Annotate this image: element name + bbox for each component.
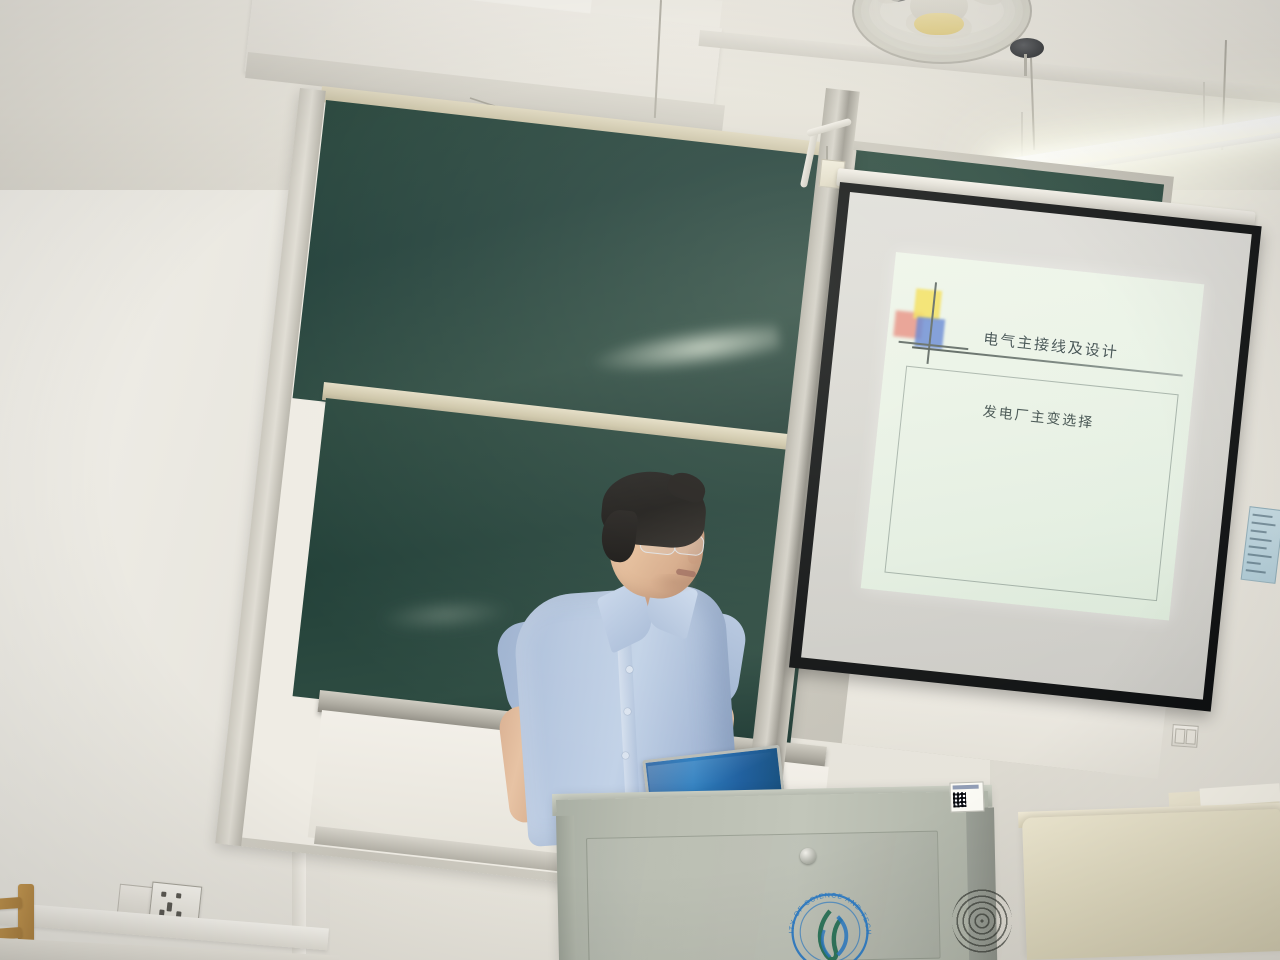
student-desk xyxy=(1022,809,1280,960)
slide-body-text: 发电厂主变选择 xyxy=(902,393,1175,441)
sticker-header-bar xyxy=(953,785,979,790)
projected-slide: 电气主接线及设计 发电厂主变选择 xyxy=(861,252,1205,621)
podium-door-handle[interactable] xyxy=(800,848,816,864)
light-switch-toggle[interactable] xyxy=(1174,728,1185,744)
classroom-photo: 电气主接线及设计 发电厂主变选择 xyxy=(0,0,1280,960)
qr-code-icon xyxy=(953,792,967,807)
slide-content-box: 发电厂主变选择 xyxy=(884,366,1178,602)
podium-cabinet-door[interactable] xyxy=(586,831,941,960)
shirt-button xyxy=(622,752,629,759)
podium-left-panel xyxy=(556,816,577,960)
light-switch-panel[interactable] xyxy=(1171,724,1198,748)
fan-center-plate xyxy=(914,13,964,35)
light-switch-toggle[interactable] xyxy=(1185,729,1196,745)
svg-text:UNIVERSITY OF SCIENCE AND TECH: UNIVERSITY OF SCIENCE AND TECHNOLOGY xyxy=(782,884,872,936)
shirt-button xyxy=(626,666,633,673)
ceiling-dome-stem xyxy=(1024,54,1027,76)
ceiling-sensor-dome-icon xyxy=(1010,38,1044,58)
light-hanger xyxy=(1021,112,1023,162)
podium-asset-sticker xyxy=(949,781,984,812)
light-hanger xyxy=(1203,82,1205,134)
shirt-button xyxy=(624,708,631,715)
university-emblem: UNIVERSITY OF SCIENCE AND TECHNOLOGY xyxy=(782,884,878,960)
wall-fan xyxy=(852,0,1032,78)
